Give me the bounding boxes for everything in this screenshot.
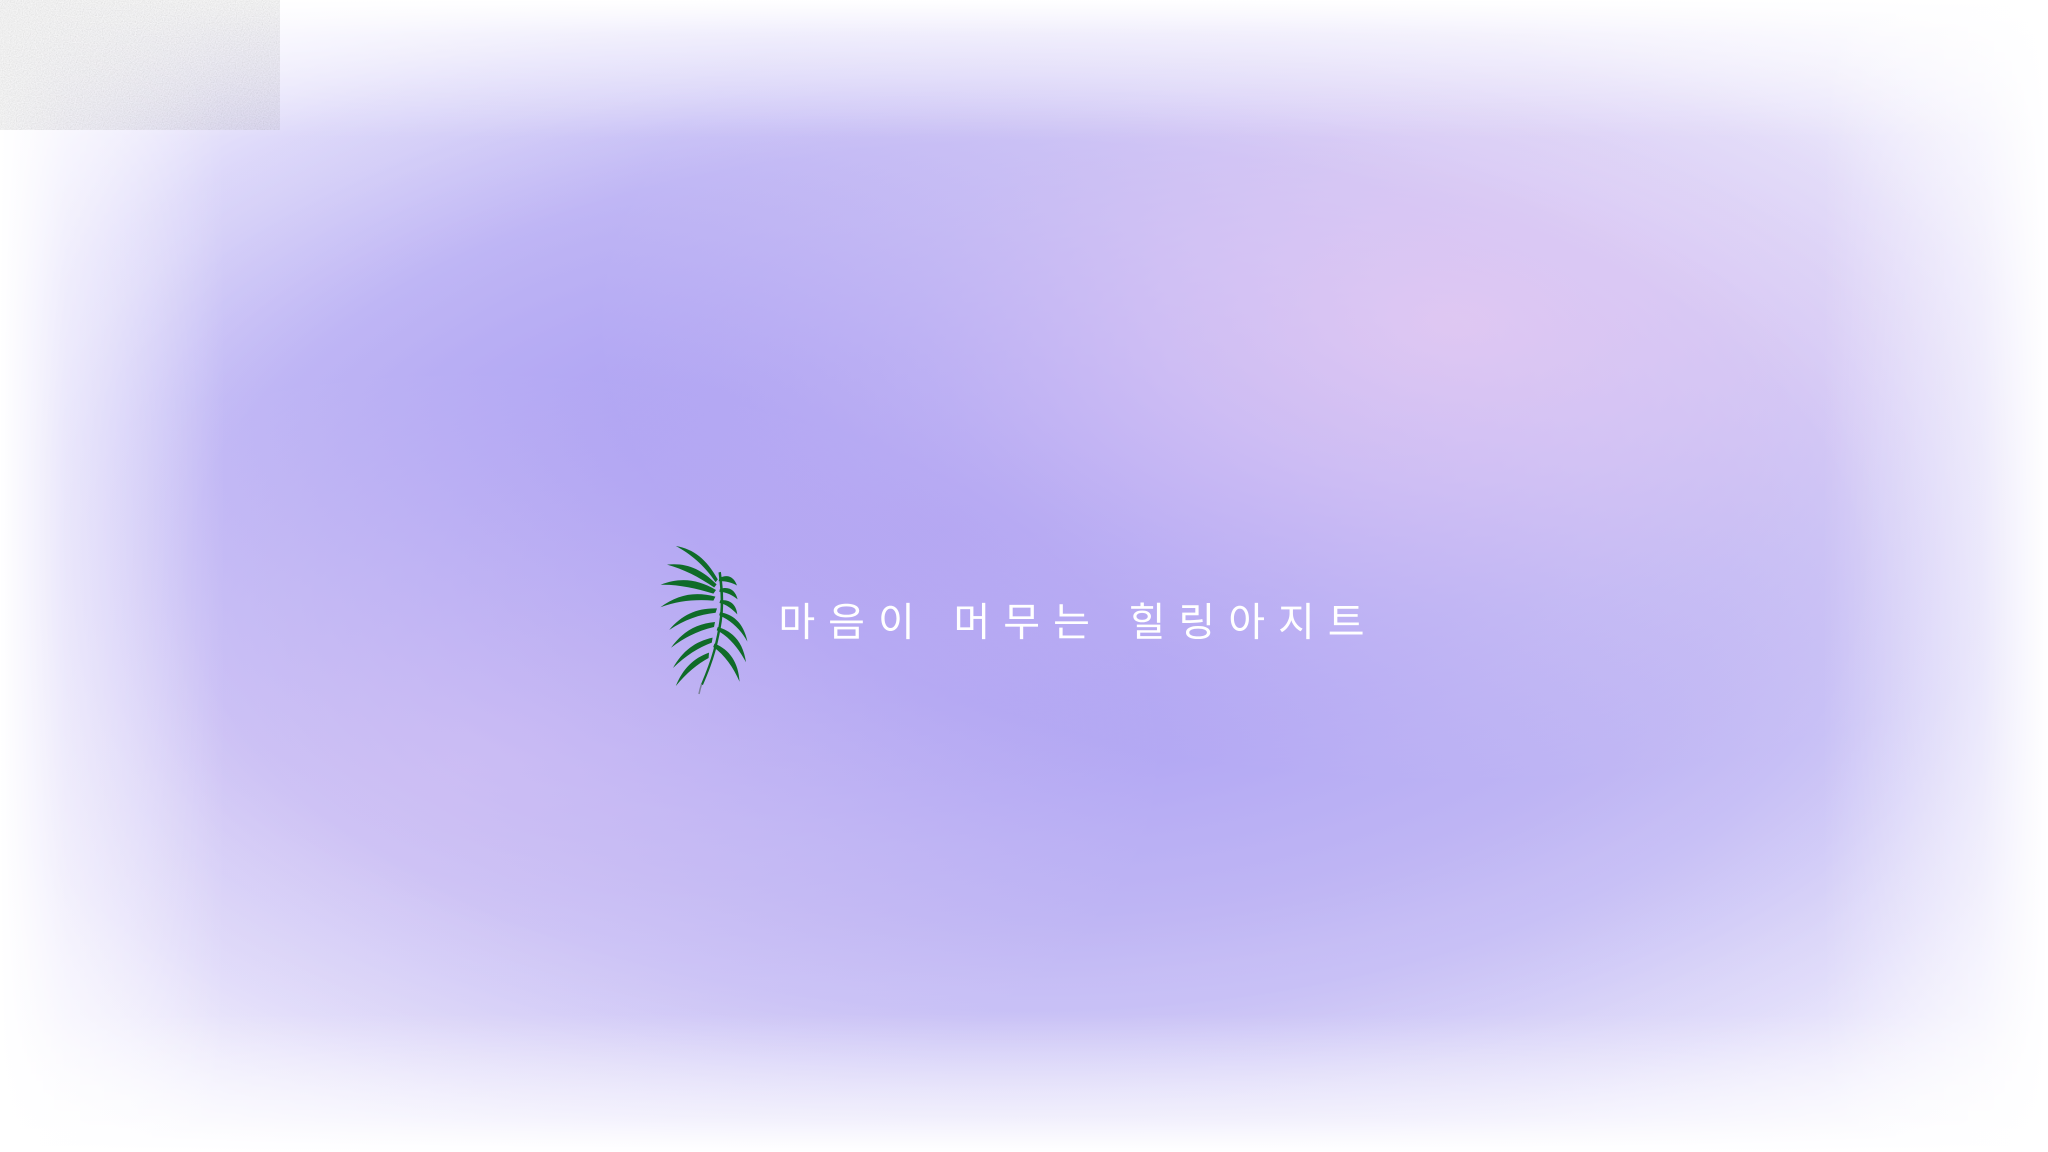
brand-lockup: 마음이 머무는 힐링아지트: [650, 547, 1377, 699]
palm-frond-icon: [650, 542, 770, 694]
hero-canvas: 마음이 머무는 힐링아지트: [0, 0, 2048, 1152]
brand-tagline: 마음이 머무는 힐링아지트: [778, 603, 1377, 643]
hero-composition: 마음이 머무는 힐링아지트: [0, 0, 2048, 1152]
